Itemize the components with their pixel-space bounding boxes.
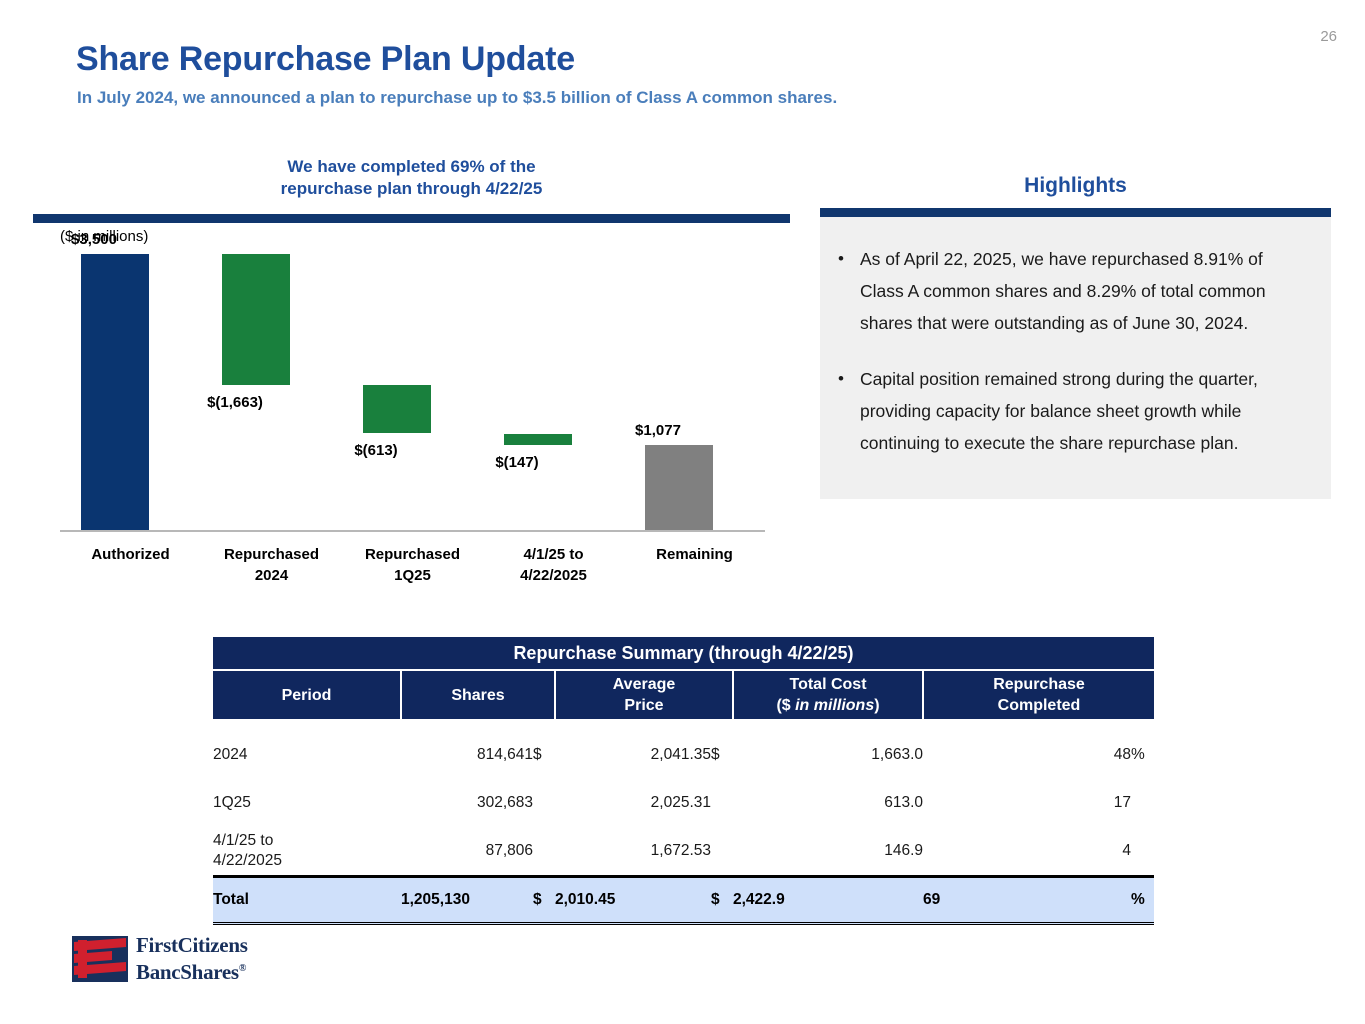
column-header-average-price: Average Price — [555, 670, 733, 719]
table-spacer-cell — [213, 719, 1154, 731]
table-title: Repurchase Summary (through 4/22/25) — [213, 637, 1154, 670]
page-title: Share Repurchase Plan Update — [76, 40, 575, 79]
column-header-average-price-line1: Average — [613, 676, 676, 693]
category-label-remaining: Remaining — [624, 544, 765, 565]
cell-period: 1Q25 — [213, 779, 401, 827]
column-header-total-cost-line2: ($ in millions) — [776, 697, 879, 714]
bar-column-repurchased-1q25: $(613) Repurchased 1Q25 — [342, 254, 483, 530]
cell-repurchase-completed: 48 — [923, 731, 1131, 779]
cell-repurchase-completed-symbol — [1131, 827, 1154, 877]
bar-label-repurchased-2024: $(1,663) — [187, 394, 283, 411]
column-header-repurchase-completed-line2: Completed — [998, 697, 1081, 714]
column-header-average-price-line2: Price — [624, 697, 663, 714]
category-label-authorized-line1: Authorized — [60, 544, 201, 565]
highlights-panel: Highlights • As of April 22, 2025, we ha… — [820, 150, 1331, 499]
bar-column-authorized: $3,500 Authorized — [60, 254, 201, 530]
first-citizens-flag-icon — [72, 934, 128, 984]
waterfall-chart-plot: $3,500 Authorized $(1,663) Repurchased 2… — [60, 254, 765, 532]
cell-average-price: 1,672.53 — [555, 827, 711, 877]
cell-period: 2024 — [213, 731, 401, 779]
cell-total-cost: 1,663.0 — [733, 731, 923, 779]
cell-repurchase-completed-symbol: % — [1131, 731, 1154, 779]
highlight-bullet-1: • As of April 22, 2025, we have repurcha… — [820, 233, 1331, 353]
cell-total-cost: 613.0 — [733, 779, 923, 827]
column-header-total-cost: Total Cost ($ in millions) — [733, 670, 923, 719]
table-title-row: Repurchase Summary (through 4/22/25) — [213, 637, 1154, 670]
table-header-row: Period Shares Average Price Total Cost (… — [213, 670, 1154, 719]
cell-total-shares-currency: $ — [533, 877, 555, 924]
chart-divider-rule — [33, 214, 790, 223]
bullet-dot-icon-2: • — [838, 363, 860, 459]
cell-shares-currency — [533, 827, 555, 877]
total-cost-units-post: ) — [874, 697, 879, 714]
bar-april-partial — [504, 434, 572, 446]
cell-average-price-currency — [711, 827, 733, 877]
cell-total-repurchase-completed: 69 — [923, 877, 1131, 924]
cell-total-average-price: 2,010.45 — [555, 877, 711, 924]
highlights-body: • As of April 22, 2025, we have repurcha… — [820, 217, 1331, 499]
registered-mark-icon: ® — [239, 963, 246, 974]
table-row: 4/1/25 to 4/22/2025 87,806 1,672.53 146.… — [213, 827, 1154, 877]
bar-remaining — [645, 445, 713, 530]
highlight-bullet-1-text: As of April 22, 2025, we have repurchase… — [860, 243, 1311, 339]
category-label-april-partial: 4/1/25 to 4/22/2025 — [483, 544, 624, 586]
bar-repurchased-1q25 — [363, 385, 431, 433]
category-label-repurchased-1q25-line2: 1Q25 — [342, 565, 483, 586]
cell-shares-currency: $ — [533, 731, 555, 779]
company-logo: FirstCitizens BancShares® — [72, 934, 248, 984]
category-label-repurchased-1q25-line1: Repurchased — [342, 544, 483, 565]
chart-heading-line1: We have completed 69% of the — [33, 156, 790, 178]
total-cost-units-em: in millions — [795, 697, 874, 714]
cell-total-cost: 146.9 — [733, 827, 923, 877]
bar-column-april-partial: $(147) 4/1/25 to 4/22/2025 — [483, 254, 624, 530]
cell-period-line2: 4/22/2025 — [213, 852, 282, 869]
cell-total-average-price-currency: $ — [711, 877, 733, 924]
highlights-divider-rule — [820, 208, 1331, 217]
chart-panel: We have completed 69% of the repurchase … — [33, 150, 790, 595]
cell-shares: 87,806 — [401, 827, 533, 877]
category-label-april-partial-line2: 4/22/2025 — [483, 565, 624, 586]
bar-label-remaining: $1,077 — [610, 422, 706, 439]
cell-period: 4/1/25 to 4/22/2025 — [213, 827, 401, 877]
table-spacer-row — [213, 719, 1154, 731]
bar-label-april-partial: $(147) — [469, 454, 565, 471]
category-label-repurchased-2024: Repurchased 2024 — [201, 544, 342, 586]
total-cost-units-pre: ($ — [776, 697, 795, 714]
bar-column-remaining: $1,077 Remaining — [624, 254, 765, 530]
cell-total-repurchase-completed-symbol: % — [1131, 877, 1154, 924]
logo-text-line2-wrap: BancShares® — [136, 957, 248, 984]
bar-label-authorized: $3,500 — [46, 231, 142, 248]
category-label-authorized: Authorized — [60, 544, 201, 565]
page-number: 26 — [1320, 28, 1337, 45]
bullet-dot-icon-1: • — [838, 243, 860, 339]
column-header-repurchase-completed: Repurchase Completed — [923, 670, 1154, 719]
cell-shares: 302,683 — [401, 779, 533, 827]
cell-average-price: 2,025.31 — [555, 779, 711, 827]
table-total-row: Total 1,205,130 $ 2,010.45 $ 2,422.9 69 … — [213, 877, 1154, 924]
logo-text-line2: BancShares — [136, 960, 239, 984]
cell-average-price-currency — [711, 779, 733, 827]
category-label-repurchased-1q25: Repurchased 1Q25 — [342, 544, 483, 586]
cell-average-price: 2,041.35 — [555, 731, 711, 779]
cell-shares-currency — [533, 779, 555, 827]
cell-period-line1: 4/1/25 to — [213, 832, 273, 849]
cell-repurchase-completed: 4 — [923, 827, 1131, 877]
highlights-heading: Highlights — [820, 150, 1331, 198]
cell-total-cost: 2,422.9 — [733, 877, 923, 924]
cell-shares: 814,641 — [401, 731, 533, 779]
table-row: 2024 814,641 $ 2,041.35 $ 1,663.0 48 % — [213, 731, 1154, 779]
category-label-remaining-line1: Remaining — [624, 544, 765, 565]
cell-repurchase-completed-symbol — [1131, 779, 1154, 827]
cell-total-label: Total — [213, 877, 401, 924]
column-header-shares: Shares — [401, 670, 555, 719]
bar-repurchased-2024 — [222, 254, 290, 385]
category-label-repurchased-2024-line2: 2024 — [201, 565, 342, 586]
logo-text-line1: FirstCitizens — [136, 934, 248, 957]
bar-column-repurchased-2024: $(1,663) Repurchased 2024 — [201, 254, 342, 530]
cell-average-price-currency: $ — [711, 731, 733, 779]
category-label-april-partial-line1: 4/1/25 to — [483, 544, 624, 565]
chart-x-axis-line — [60, 530, 765, 532]
chart-heading-line2: repurchase plan through 4/22/25 — [33, 178, 790, 200]
table-row: 1Q25 302,683 2,025.31 613.0 17 — [213, 779, 1154, 827]
repurchase-summary-table: Repurchase Summary (through 4/22/25) Per… — [213, 637, 1154, 925]
bar-authorized — [81, 254, 149, 530]
column-header-total-cost-line1: Total Cost — [789, 676, 866, 693]
column-header-repurchase-completed-line1: Repurchase — [993, 676, 1085, 693]
chart-heading: We have completed 69% of the repurchase … — [33, 156, 790, 200]
logo-wordmark: FirstCitizens BancShares® — [136, 934, 248, 984]
bar-label-repurchased-1q25: $(613) — [328, 442, 424, 459]
highlight-bullet-2-text: Capital position remained strong during … — [860, 363, 1311, 459]
column-header-period: Period — [213, 670, 401, 719]
highlight-bullet-2: • Capital position remained strong durin… — [820, 353, 1331, 473]
cell-repurchase-completed: 17 — [923, 779, 1131, 827]
cell-total-shares: 1,205,130 — [401, 877, 533, 924]
page-subtitle: In July 2024, we announced a plan to rep… — [77, 88, 837, 108]
category-label-repurchased-2024-line1: Repurchased — [201, 544, 342, 565]
